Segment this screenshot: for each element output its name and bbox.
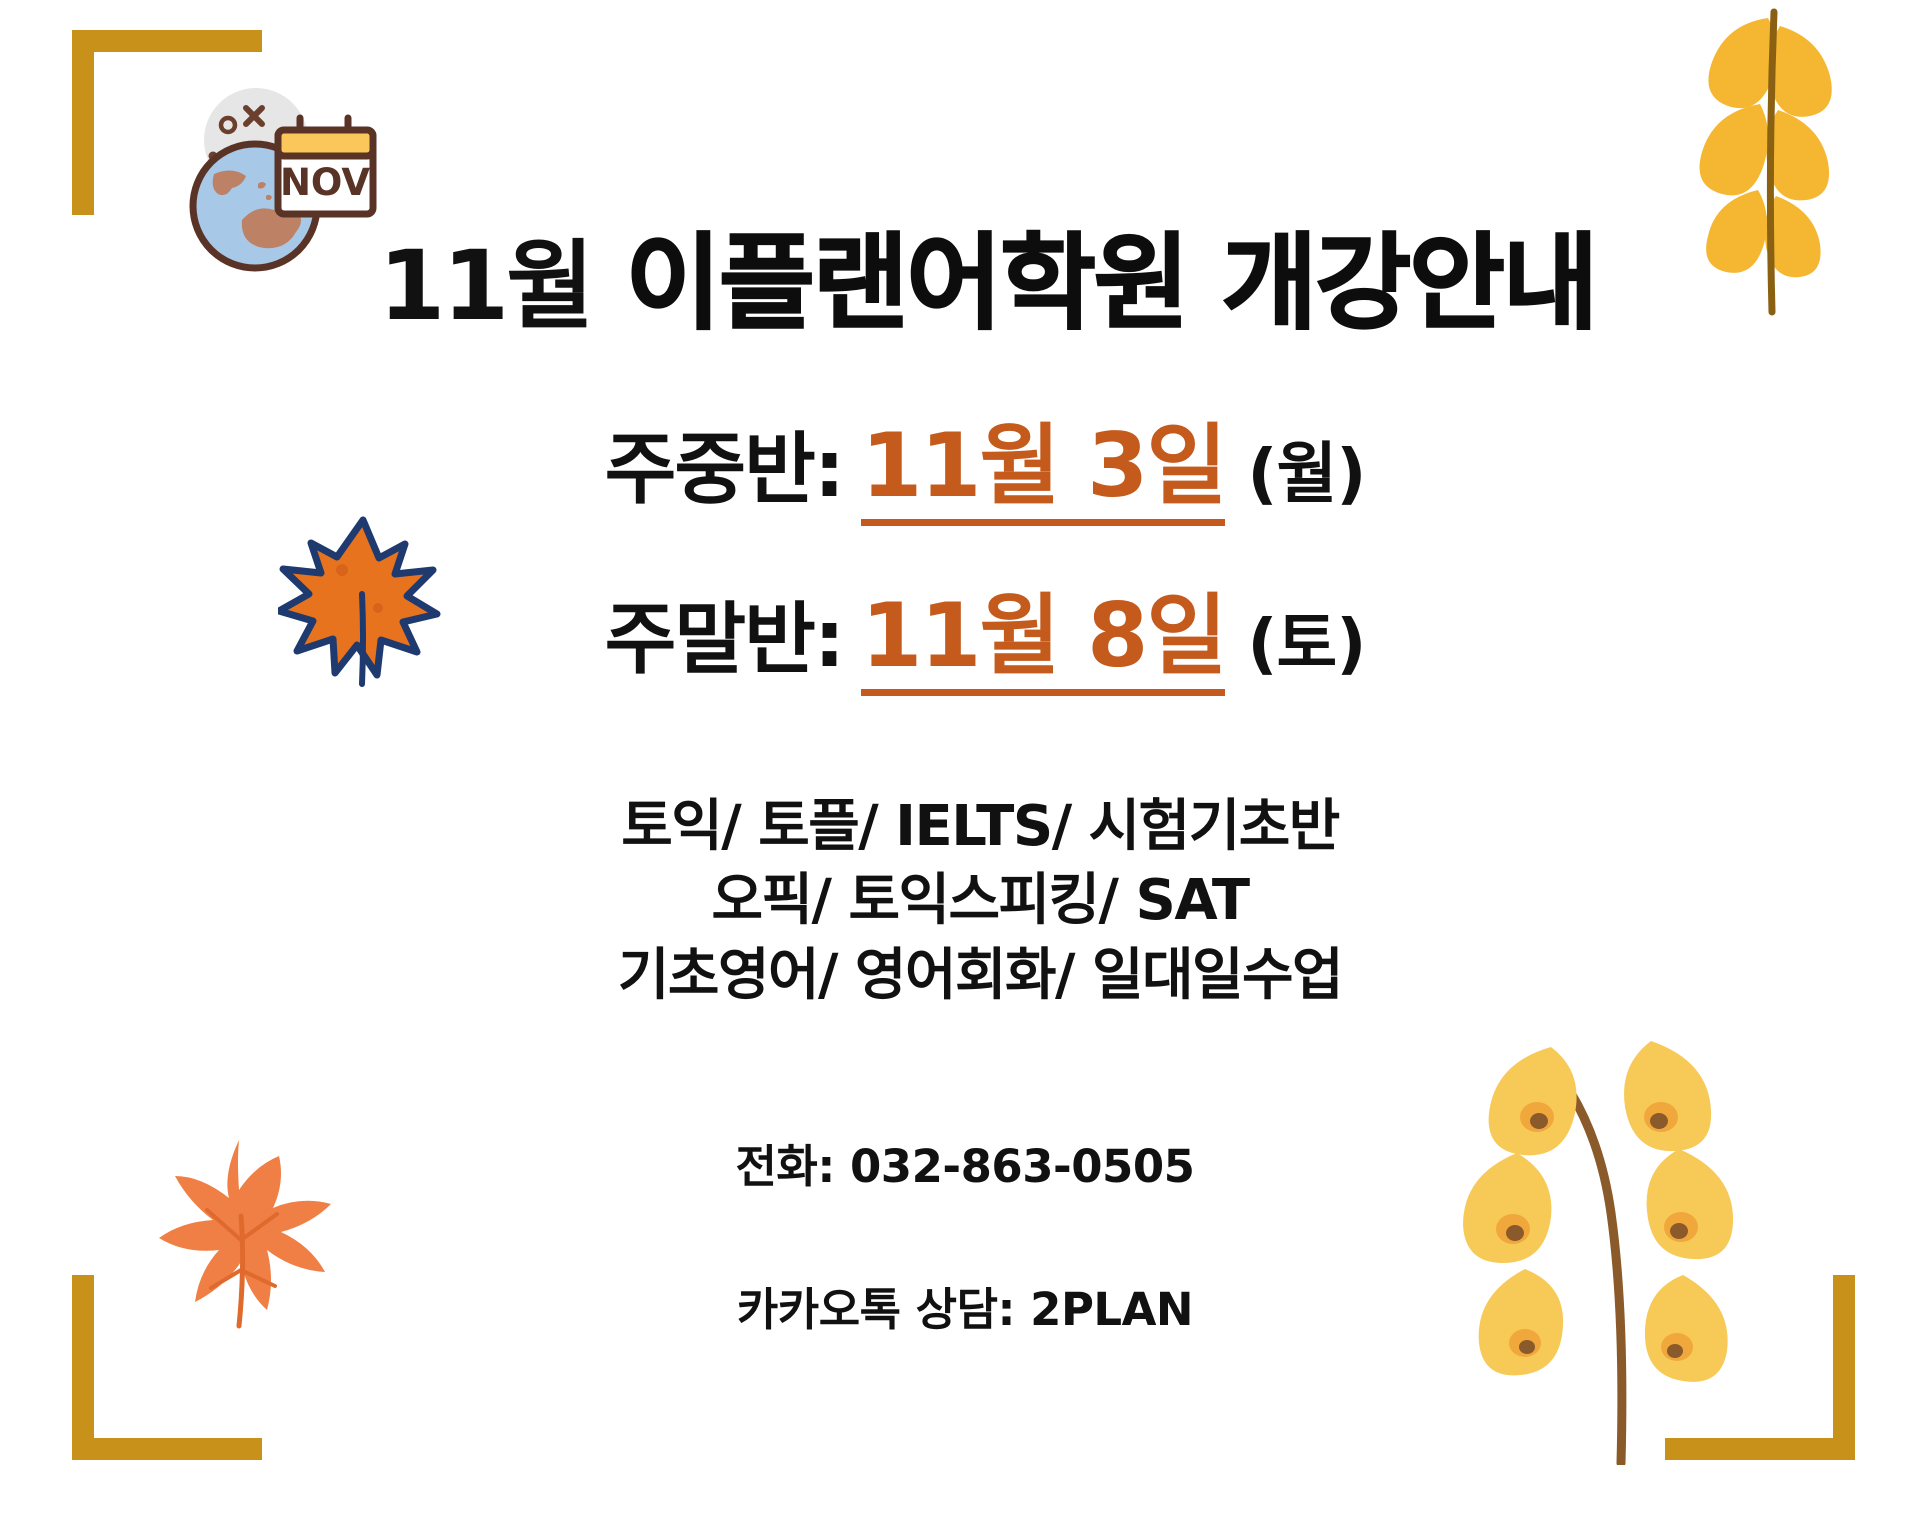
- schedule-day-weekend: (토): [1247, 605, 1365, 682]
- schedule-label-weekday: 주중반:: [605, 425, 843, 515]
- contact-block: 전화: 032-863-0505 카카오톡 상담: 2PLAN: [0, 1130, 1920, 1338]
- corner-bracket-top-left: [72, 30, 262, 215]
- title-month: 11월: [379, 230, 592, 342]
- contact-phone: 전화: 032-863-0505: [10, 1130, 1920, 1195]
- schedule-day-weekday: (월): [1247, 435, 1365, 512]
- course-line: 오픽/ 토익스피킹/ SAT: [40, 864, 1920, 938]
- course-line: 토익/ 토플/ IELTS/ 시험기초반: [40, 790, 1920, 864]
- course-list: 토익/ 토플/ IELTS/ 시험기초반 오픽/ 토익스피킹/ SAT 기초영어…: [0, 790, 1920, 1013]
- course-line: 기초영어/ 영어회화/ 일대일수업: [40, 939, 1920, 1013]
- poster-title: 11월이플랜어학원 개강안내: [0, 198, 1920, 349]
- contact-kakao: 카카오톡 상담: 2PLAN: [10, 1273, 1920, 1338]
- poster-canvas: NOV: [0, 0, 1920, 1523]
- schedule-row-weekend: 주말반:11월 8일(토): [0, 565, 1920, 692]
- schedule-row-weekday: 주중반:11월 3일(월): [0, 395, 1920, 522]
- schedule-date-weekend: 11월 8일: [861, 584, 1225, 696]
- schedule-label-weekend: 주말반:: [605, 595, 843, 685]
- title-main: 이플랜어학원 개강안내: [625, 222, 1596, 344]
- schedule-date-weekday: 11월 3일: [861, 414, 1225, 526]
